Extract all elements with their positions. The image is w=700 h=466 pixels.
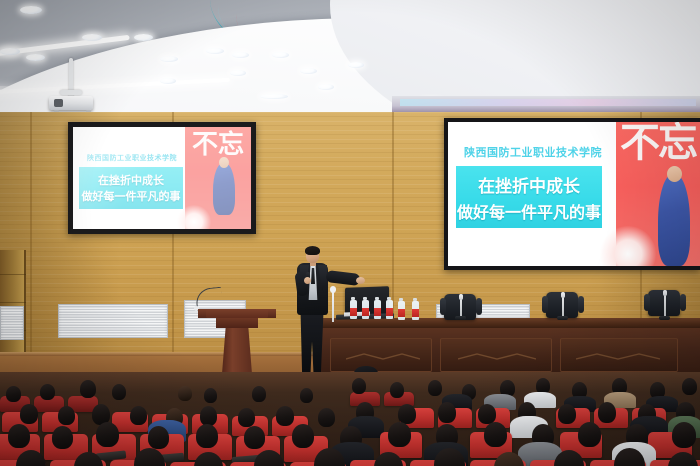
audience-head bbox=[672, 422, 696, 448]
bottle-cap bbox=[351, 297, 355, 300]
audience-head bbox=[558, 404, 576, 424]
audience-head bbox=[428, 380, 442, 396]
slide-headline-banner: 在挫折中成长 做好每一件平凡的事 bbox=[456, 166, 602, 228]
audience-head bbox=[196, 424, 218, 448]
desk-microphone-stem bbox=[664, 294, 666, 318]
audience-head bbox=[204, 388, 217, 403]
audience-head bbox=[484, 422, 507, 447]
bottle-cap bbox=[413, 298, 417, 301]
head-table-zigzag-motif bbox=[576, 352, 660, 362]
ceiling-downlight bbox=[206, 48, 224, 54]
left-screen-surface: 不忘 陕西国防工业职业技术学院 在挫折中成长 做好每一件平凡的事 bbox=[73, 127, 251, 229]
podium-neck bbox=[216, 318, 258, 328]
ceiling-downlight bbox=[232, 52, 249, 58]
slide-headline-line-1: 在挫折中成长 bbox=[478, 172, 580, 197]
audience-head bbox=[578, 422, 601, 447]
chair-wing bbox=[644, 294, 650, 311]
podium-column bbox=[222, 328, 252, 374]
slide-main: 不忘 陕西国防工业职业技术学院 在挫折中成长 做好每一件平凡的事 bbox=[448, 122, 700, 266]
audience-head bbox=[96, 422, 119, 447]
bottle-label bbox=[386, 308, 393, 316]
ceiling-downlight bbox=[0, 48, 20, 55]
presenter-hand-left bbox=[304, 277, 311, 284]
table-microphone-head bbox=[330, 286, 336, 293]
lecture-hall-photo: 不忘 陕西国防工业职业技术学院 在挫折中成长 做好每一件平凡的事 不忘 bbox=[0, 0, 700, 466]
audience-head bbox=[318, 408, 335, 427]
audience-head bbox=[58, 406, 75, 425]
audience-head bbox=[438, 402, 456, 423]
alcove-shelf-line bbox=[0, 274, 26, 275]
audience-head bbox=[6, 386, 21, 402]
main-led-screen[interactable]: 不忘 陕西国防工业职业技术学院 在挫折中成长 做好每一件平凡的事 bbox=[444, 118, 700, 270]
audience-head bbox=[80, 380, 96, 398]
audience-head bbox=[682, 378, 697, 395]
audience-area bbox=[0, 372, 700, 466]
audience-head bbox=[398, 404, 416, 424]
audience-head bbox=[52, 426, 73, 449]
ceiling-downlight bbox=[134, 34, 153, 41]
desk-microphone-base bbox=[455, 316, 466, 320]
projector-lens-icon bbox=[54, 99, 63, 107]
desk-microphone-base bbox=[557, 316, 568, 320]
audience-head bbox=[292, 424, 314, 448]
audience-head bbox=[40, 384, 55, 400]
bottle-label bbox=[374, 308, 381, 316]
desk-microphone-head bbox=[663, 290, 667, 296]
audience-head bbox=[352, 378, 366, 394]
chair-wing bbox=[476, 298, 482, 315]
audience-head bbox=[244, 426, 265, 449]
bottle-label bbox=[350, 308, 357, 316]
valance-accent-light bbox=[400, 99, 696, 106]
desk-microphone-base bbox=[659, 316, 670, 320]
ceiling-downlight bbox=[300, 68, 317, 74]
bottle-cap bbox=[387, 297, 391, 300]
chair-wing bbox=[440, 298, 446, 315]
slide-left: 不忘 陕西国防工业职业技术学院 在挫折中成长 做好每一件平凡的事 bbox=[73, 127, 251, 229]
hvac-vent bbox=[58, 304, 168, 338]
hvac-vent bbox=[0, 306, 24, 340]
audience-head bbox=[148, 426, 169, 449]
ceiling-downlight bbox=[26, 54, 45, 61]
head-table-top bbox=[318, 318, 700, 328]
head-table-zigzag-motif bbox=[346, 352, 420, 362]
audience-head bbox=[112, 384, 126, 400]
ceiling-downlight bbox=[160, 78, 176, 84]
podium-top bbox=[206, 309, 268, 318]
slide-decor-character: 不忘 bbox=[618, 124, 698, 162]
left-screen-glare bbox=[73, 127, 251, 229]
ceiling-downlight bbox=[82, 34, 102, 41]
ceiling-downlight bbox=[318, 84, 334, 90]
left-projection-screen[interactable]: 不忘 陕西国防工业职业技术学院 在挫折中成长 做好每一件平凡的事 bbox=[68, 122, 256, 234]
slide-person-figure bbox=[658, 174, 690, 266]
projector-mount-plate bbox=[60, 90, 82, 95]
ceiling-downlight bbox=[160, 56, 178, 62]
presenter-hand-right bbox=[356, 277, 365, 284]
presenter-hair bbox=[305, 246, 320, 255]
bottle-cap bbox=[399, 298, 403, 301]
audience-head bbox=[478, 404, 496, 424]
audience-head bbox=[388, 422, 411, 447]
table-microphone-stand bbox=[332, 290, 334, 322]
wall-panel-seam bbox=[30, 112, 32, 370]
audience-head bbox=[598, 402, 616, 423]
chair-wing bbox=[578, 296, 584, 313]
bottle-cap bbox=[375, 297, 379, 300]
head-table-zigzag-motif bbox=[458, 352, 536, 362]
chair-wing bbox=[680, 294, 686, 311]
desk-microphone-stem bbox=[562, 296, 564, 318]
bottle-label bbox=[362, 308, 369, 316]
bottle-cap bbox=[363, 297, 367, 300]
desk-microphone-head bbox=[459, 294, 463, 300]
audience-head bbox=[200, 406, 217, 426]
audience-head bbox=[20, 404, 38, 424]
main-screen-surface: 不忘 陕西国防工业职业技术学院 在挫折中成长 做好每一件平凡的事 bbox=[448, 122, 700, 266]
desk-microphone-stem bbox=[460, 298, 462, 318]
slide-institution-name: 陕西国防工业职业技术学院 bbox=[464, 144, 602, 160]
ceiling-downlight bbox=[20, 6, 42, 14]
audience-head bbox=[252, 386, 266, 402]
ceiling-downlight bbox=[348, 62, 364, 68]
ceiling-downlight bbox=[230, 70, 246, 76]
slide-headline-line-2: 做好每一件平凡的事 bbox=[457, 199, 601, 223]
slide-person-head bbox=[667, 166, 682, 182]
ceiling-downlight bbox=[272, 52, 289, 58]
alcove-shelf-line bbox=[0, 302, 26, 303]
audience-head bbox=[390, 382, 404, 398]
audience-head bbox=[238, 408, 255, 427]
bottle-label bbox=[398, 309, 405, 317]
audience-head bbox=[130, 406, 147, 425]
bottle-label bbox=[412, 309, 419, 317]
audience-head bbox=[300, 388, 313, 403]
desk-microphone-head bbox=[561, 292, 565, 298]
audience-head bbox=[8, 424, 30, 448]
chair-wing bbox=[542, 296, 548, 313]
audience-head bbox=[178, 386, 192, 401]
audience-head bbox=[276, 406, 294, 426]
ceiling-downlight bbox=[260, 94, 288, 99]
